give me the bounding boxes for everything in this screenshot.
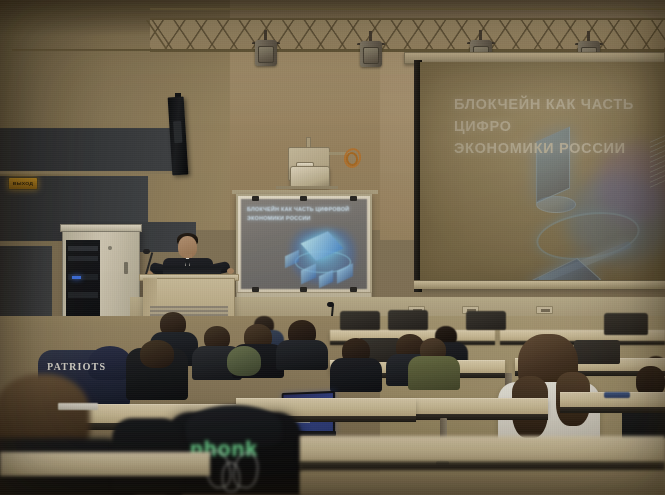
audience-beanie	[227, 346, 261, 376]
desk-item	[604, 392, 630, 398]
projector-rail	[276, 186, 338, 189]
exit-sign: ВЫХОД	[8, 177, 38, 190]
blockchain-illustration-small	[285, 223, 361, 289]
wall-panel-seam	[0, 171, 190, 174]
chair	[574, 340, 620, 364]
main-projection-screen: БЛОКЧЕЙН КАК ЧАСТЬ ЦИФРО ЭКОНОМИКИ РОССИ…	[420, 62, 665, 288]
slide-title-small: БЛОКЧЕЙН КАК ЧАСТЬ ЦИФРОВОЙ ЭКОНОМИКИ РО…	[247, 206, 363, 223]
ceiling-projector	[290, 166, 330, 188]
desk-foreground-bottom-left	[0, 452, 210, 476]
rack-latch	[108, 246, 112, 250]
server-rack-top	[60, 224, 142, 232]
audience-body	[408, 356, 460, 390]
secondary-projection: БЛОКЧЕЙН КАК ЧАСТЬ ЦИФРОВОЙ ЭКОНОМИКИ РО…	[241, 199, 367, 289]
desk-edge	[560, 407, 665, 413]
hoodie-text-patriots: PATRIOTS	[47, 362, 106, 373]
desk-paper	[58, 403, 98, 410]
slide-title-small-line-2: ЭКОНОМИКИ РОССИИ	[247, 215, 363, 224]
audience-body	[276, 340, 328, 370]
rack-led	[72, 276, 81, 279]
rack-door-handle	[124, 262, 128, 274]
chair	[604, 313, 648, 335]
microphone-head	[327, 302, 334, 307]
rack-unit	[68, 246, 98, 251]
audience-head	[140, 340, 174, 368]
truss-rail	[12, 49, 665, 51]
desk-underside	[300, 471, 665, 495]
whiteboard-clamp	[300, 196, 307, 201]
podium-microphone-head	[143, 249, 150, 254]
chair	[466, 311, 506, 330]
chair	[388, 310, 428, 330]
desk-edge	[300, 462, 665, 471]
audience-body	[330, 358, 382, 392]
screen-bottom-bar	[414, 280, 665, 289]
rack-unit	[68, 292, 98, 298]
truss-rail-top	[150, 8, 665, 10]
desk-row-near	[398, 398, 548, 414]
exit-sign-label: ВЫХОД	[13, 181, 34, 186]
chair	[340, 311, 380, 330]
desk-foreground-bottom	[300, 436, 665, 462]
desk-edge	[398, 414, 548, 420]
rack-unit	[68, 256, 98, 261]
lecture-hall-photo: ВЫХОД БЛОКЧЕЙН КАК ЧАСТЬ Ц	[0, 0, 665, 495]
wall-socket	[536, 306, 553, 314]
whiteboard-clamp	[252, 196, 259, 201]
screen-hotspot	[420, 62, 665, 288]
whiteboard-clamp	[350, 196, 357, 201]
server-rack-interior	[66, 240, 100, 322]
slide-title-small-line-1: БЛОКЧЕЙН КАК ЧАСТЬ ЦИФРОВОЙ	[247, 206, 363, 215]
hoodie-line-art	[221, 462, 240, 493]
wall-panel	[0, 246, 52, 316]
wall-panel	[0, 128, 185, 172]
